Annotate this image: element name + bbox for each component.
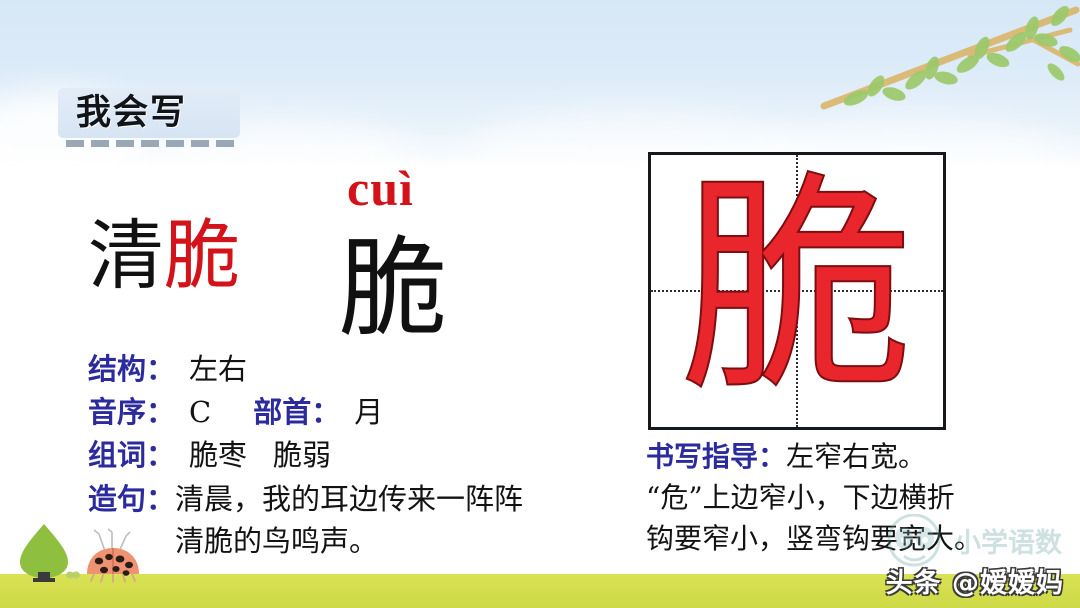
- word-example-1: 脆枣: [189, 438, 247, 472]
- sprout-icon: [66, 568, 80, 580]
- tree-icon: [18, 522, 70, 582]
- initial-label: 音序：: [88, 395, 175, 429]
- pinyin-label: cuì: [347, 160, 414, 216]
- slide-canvas: 我会写 清脆 cuì 脆 结构：左右 音序：C部首：月 组词：脆枣脆弱 造句：清…: [0, 0, 1080, 608]
- sentence-label: 造句：: [88, 482, 175, 516]
- vocabulary-word: 清脆: [88, 214, 240, 298]
- word-char-highlight: 脆: [164, 211, 240, 300]
- title-dashed-underline: [66, 140, 236, 147]
- info-row-sentence: 造句：清晨，我的耳边传来一阵阵清脆的鸟鸣声。: [88, 478, 588, 562]
- radical-label: 部首：: [253, 395, 340, 429]
- info-row-words: 组词：脆枣脆弱: [88, 434, 608, 477]
- guidance-label: 书写指导：: [646, 440, 786, 473]
- structure-value: 左右: [189, 352, 247, 386]
- word-example-2: 脆弱: [273, 438, 331, 472]
- page-title: 我会写: [58, 88, 240, 150]
- writing-guidance: 书写指导：左窄右宽。 “危”上边窄小，下边横折 钩要窄小，竖弯钩要宽大。: [646, 436, 1066, 559]
- character-info-list: 结构：左右 音序：C部首：月 组词：脆枣脆弱: [88, 348, 608, 477]
- info-row-structure: 结构：左右: [88, 348, 608, 391]
- guidance-line-3: 钩要窄小，竖弯钩要宽大。: [646, 522, 982, 555]
- info-row-initial-radical: 音序：C部首：月: [88, 391, 608, 434]
- guidance-line-1: 左窄右宽。: [786, 440, 926, 473]
- radical-value: 月: [354, 395, 383, 429]
- structure-label: 结构：: [88, 352, 175, 386]
- sentence-value: 清晨，我的耳边传来一阵阵清脆的鸟鸣声。: [175, 478, 537, 562]
- headword-character: 脆: [339, 232, 447, 348]
- author-watermark: 头条 @嫒嫒妈: [886, 561, 1064, 600]
- word-char-normal: 清: [88, 211, 164, 300]
- grid-character: 脆: [651, 155, 943, 427]
- title-label: 我会写: [76, 89, 187, 137]
- initial-value: C: [189, 395, 211, 429]
- words-label: 组词：: [88, 438, 175, 472]
- character-grid-box: 脆: [648, 152, 946, 430]
- guidance-line-2: “危”上边窄小，下边横折: [646, 481, 955, 514]
- leafy-branch-icon: [820, 0, 1080, 114]
